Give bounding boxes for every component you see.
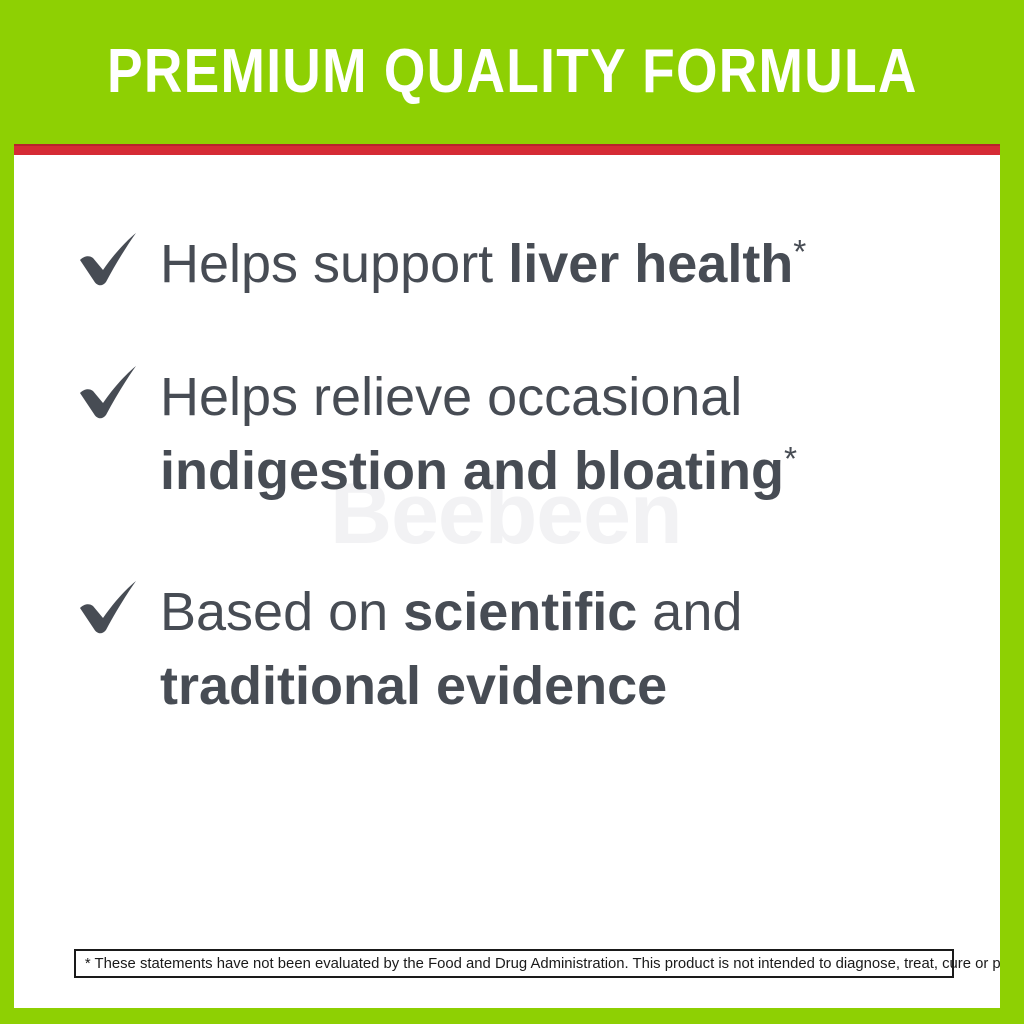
checkmark-icon bbox=[78, 231, 140, 289]
checkmark-icon bbox=[78, 579, 140, 637]
disclaimer-box: * These statements have not been evaluat… bbox=[74, 949, 954, 978]
benefit-item: Helps support liver health* bbox=[78, 227, 978, 301]
benefit-text: Helps relieve occasional indigestion and… bbox=[160, 360, 978, 508]
checkmark-icon bbox=[78, 364, 140, 422]
product-benefits-card: PREMIUM QUALITY FORMULA Beebeen Helps su… bbox=[0, 0, 1024, 1024]
benefit-text: Helps support liver health* bbox=[160, 227, 978, 301]
disclaimer-text: * These statements have not been evaluat… bbox=[76, 955, 1000, 972]
accent-rule bbox=[14, 144, 1000, 155]
page-title: PREMIUM QUALITY FORMULA bbox=[107, 40, 918, 104]
benefit-item: Helps relieve occasional indigestion and… bbox=[78, 360, 978, 508]
content-panel: Beebeen Helps support liver health* Help… bbox=[14, 155, 1000, 1008]
header-band: PREMIUM QUALITY FORMULA bbox=[0, 0, 1024, 144]
benefit-text: Based on scientific and traditional evid… bbox=[160, 575, 978, 723]
benefit-item: Based on scientific and traditional evid… bbox=[78, 575, 978, 723]
